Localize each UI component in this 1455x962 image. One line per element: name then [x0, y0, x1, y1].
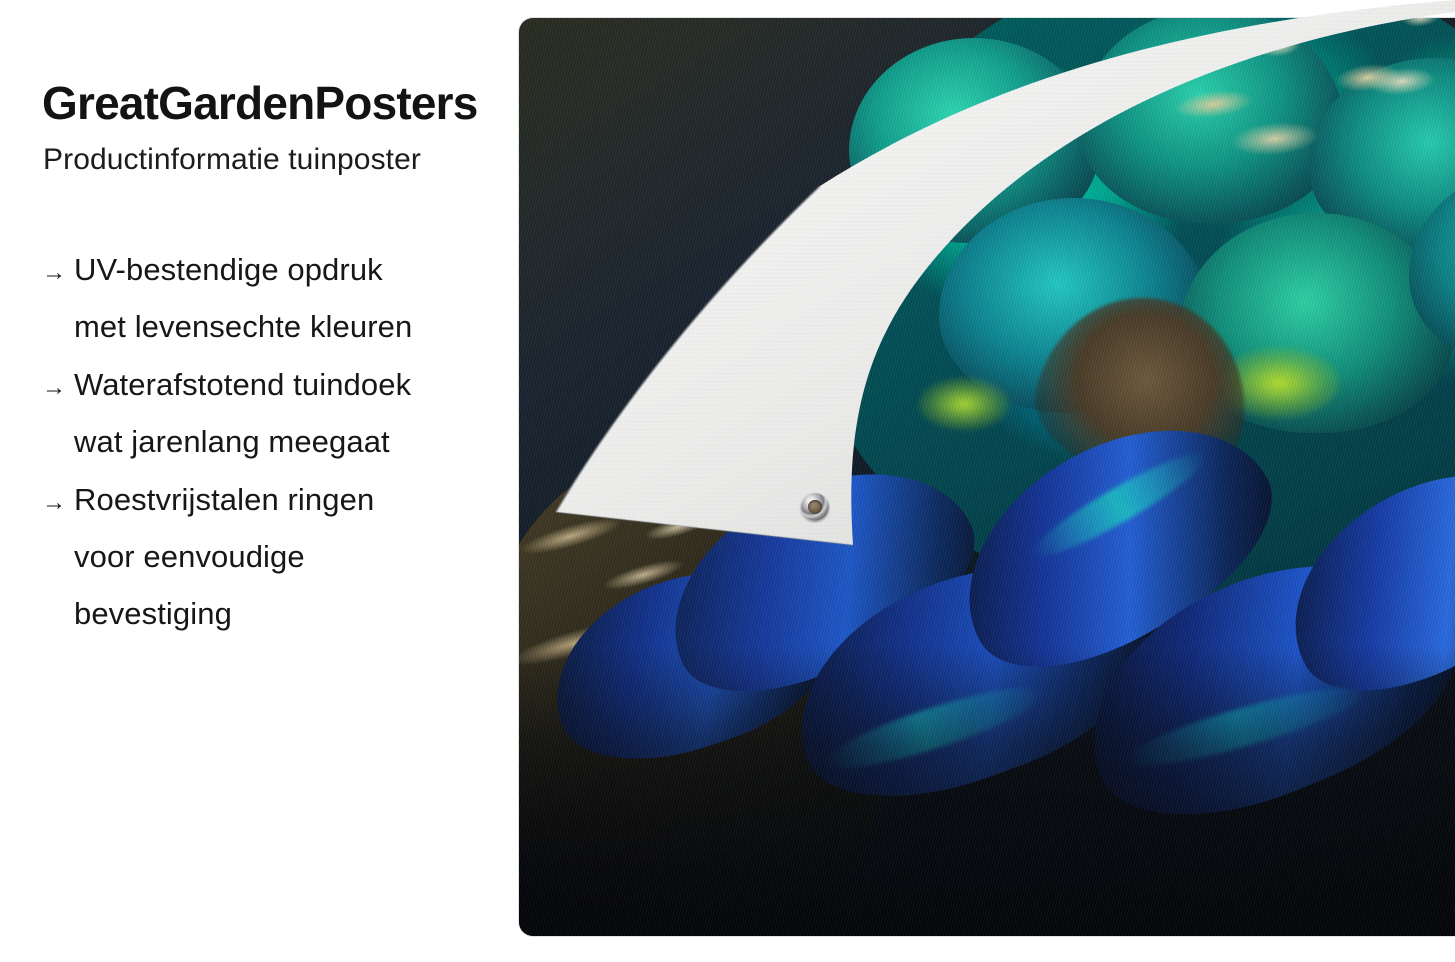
- feature-text: Roestvrijstalen ringen: [74, 482, 374, 518]
- product-info-panel: GreatGardenPosters Productinformatie tui…: [0, 0, 560, 962]
- feature-text: voor eenvoudige: [74, 539, 305, 575]
- feature-item-uv-print: → UV-bestendige opdruk met levensechte k…: [42, 252, 562, 366]
- grommet-ring-icon: [801, 493, 829, 521]
- product-photo: [519, 18, 1455, 936]
- feature-text: bevestiging: [74, 596, 232, 632]
- feature-line: → Waterafstotend tuindoek: [42, 367, 562, 424]
- arrow-spacer: [42, 548, 74, 572]
- feature-line: → UV-bestendige opdruk: [42, 252, 562, 309]
- cream-speckle-band: [1151, 18, 1455, 263]
- arrow-spacer: [42, 433, 74, 457]
- page-subtitle: Productinformatie tuinposter: [43, 143, 421, 178]
- feature-text: Waterafstotend tuindoek: [74, 367, 411, 403]
- arrow-right-icon: →: [42, 376, 74, 400]
- grommet-hole: [808, 500, 822, 514]
- feature-line: → Roestvrijstalen ringen: [42, 482, 562, 539]
- arrow-right-icon: →: [42, 261, 74, 285]
- feature-text: met levensechte kleuren: [74, 309, 412, 345]
- feature-text: wat jarenlang meegaat: [74, 424, 390, 460]
- arrow-right-icon: →: [42, 491, 74, 515]
- feature-item-stainless-rings: → Roestvrijstalen ringen voor eenvoudige…: [42, 482, 562, 653]
- brand-title: GreatGardenPosters: [42, 79, 478, 127]
- feature-line: voor eenvoudige: [42, 539, 562, 596]
- dark-foreground-feathers: [519, 646, 1455, 936]
- feature-item-water-repellent: → Waterafstotend tuindoek wat jarenlang …: [42, 367, 562, 481]
- feature-line: wat jarenlang meegaat: [42, 424, 562, 481]
- feature-text: UV-bestendige opdruk: [74, 252, 383, 288]
- arrow-spacer: [42, 605, 74, 629]
- arrow-spacer: [42, 318, 74, 342]
- chartreuse-highlight: [919, 378, 1009, 430]
- feature-line: bevestiging: [42, 596, 562, 653]
- feature-list: → UV-bestendige opdruk met levensechte k…: [42, 252, 562, 654]
- product-info-banner: GreatGardenPosters Productinformatie tui…: [0, 0, 1455, 962]
- feature-line: met levensechte kleuren: [42, 309, 562, 366]
